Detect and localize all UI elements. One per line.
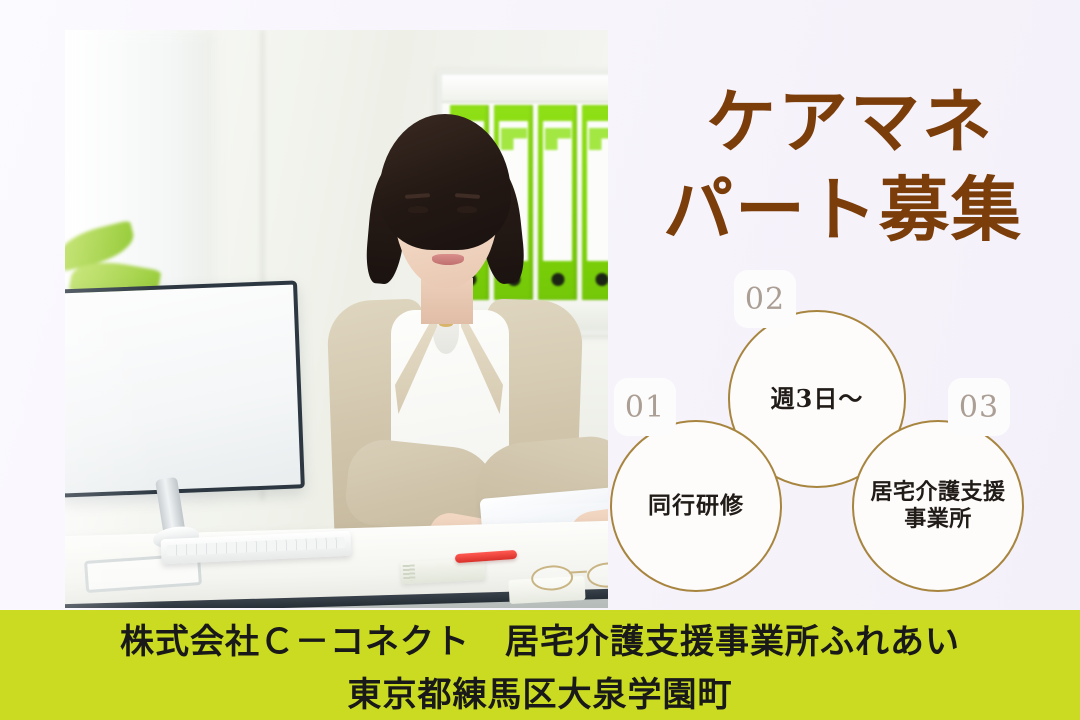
hero-photo	[65, 30, 608, 608]
person-eye-left	[408, 206, 428, 213]
feature-label-03-line1: 居宅介護支援	[870, 479, 1005, 505]
feature-label-03-line2: 事業所	[904, 506, 972, 532]
footer-banner: 株式会社Ｃ－コネクト 居宅介護支援事業所ふれあい 東京都練馬区大泉学園町	[0, 610, 1080, 720]
feature-label-02: 週3日〜	[763, 384, 872, 413]
photo-shelf-top	[442, 75, 608, 103]
address-line: 東京都練馬区大泉学園町	[348, 667, 733, 716]
headline: ケアマネ パート募集	[612, 78, 1074, 254]
photo-person	[333, 114, 608, 584]
feature-circle-03: 居宅介護支援 事業所	[852, 420, 1024, 592]
poster-root: ケアマネ パート募集 同行研修 週3日〜 居宅介護支援 事業所 01 02 03…	[0, 0, 1080, 720]
company-name-line: 株式会社Ｃ－コネクト 居宅介護支援事業所ふれあい	[120, 614, 960, 663]
headline-line-2: パート募集	[612, 166, 1074, 254]
photo-monitor	[65, 280, 305, 497]
feature-label-01: 同行研修	[640, 492, 752, 520]
feature-circles: 同行研修 週3日〜 居宅介護支援 事業所 01 02 03	[600, 272, 1070, 592]
feature-number-badge-03: 03	[948, 378, 1010, 436]
feature-label-03: 居宅介護支援 事業所	[862, 479, 1013, 533]
feature-number-badge-02: 02	[734, 270, 796, 328]
photo-eyeglasses	[530, 561, 608, 588]
person-mouth	[432, 254, 464, 265]
person-hair	[379, 114, 511, 250]
headline-line-1: ケアマネ	[612, 78, 1074, 166]
person-eye-right	[457, 206, 477, 213]
feature-circle-01: 同行研修	[610, 420, 782, 592]
feature-number-badge-01: 01	[614, 378, 676, 436]
eyeglasses-bridge	[569, 571, 587, 574]
